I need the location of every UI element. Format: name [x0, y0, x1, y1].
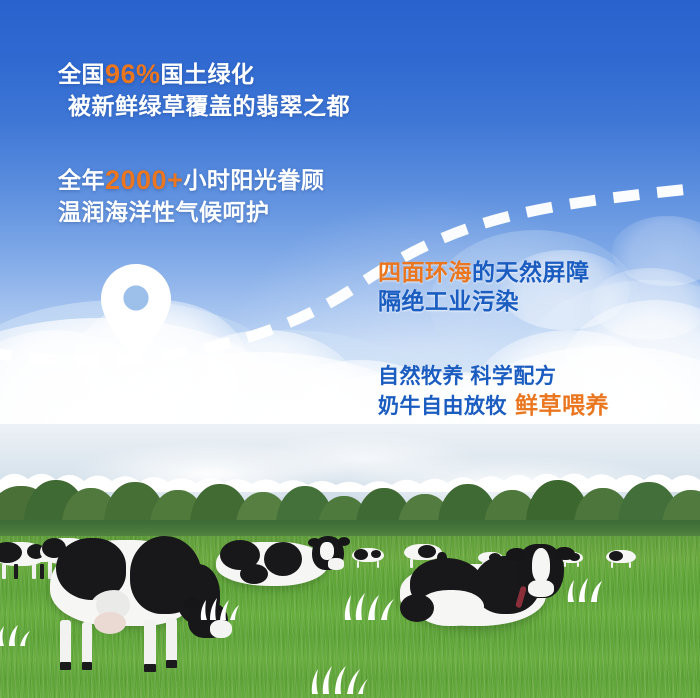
feeding-line-1: 自然牧养 科学配方: [378, 364, 609, 391]
text-block-feeding: 自然牧养 科学配方 奶牛自由放牧鲜草喂养: [378, 364, 609, 421]
text-block-greening: 全国96%国土绿化 被新鲜绿草覆盖的翡翠之都: [58, 57, 350, 121]
grass-tuft-icon: [308, 662, 370, 694]
greening-line-2: 被新鲜绿草覆盖的翡翠之都: [58, 92, 350, 121]
greening-highlight: 96%: [105, 59, 161, 89]
grass-tuft-icon: [0, 620, 32, 646]
pasture-photo: [0, 424, 700, 698]
text-block-sea-barrier: 四面环海的天然屏障 隔绝工业污染: [378, 258, 590, 317]
greening-line1-pre: 全国: [58, 61, 105, 87]
cow-foreground-grazing: [38, 502, 228, 674]
sea-barrier-line-2: 隔绝工业污染: [378, 287, 590, 316]
greening-line1-post: 国土绿化: [161, 61, 255, 87]
text-block-sunshine: 全年2000+小时阳光眷顾 温润海洋性气候呵护: [58, 163, 324, 227]
location-pin-icon: [98, 262, 174, 360]
feeding-line2-pre: 奶牛自由放牧: [378, 395, 507, 418]
sunshine-line1-post: 小时阳光眷顾: [183, 167, 324, 193]
sea-barrier-line-1: 四面环海的天然屏障: [378, 258, 590, 287]
sea-barrier-line1-post: 的天然屏障: [472, 259, 590, 285]
sunshine-line-1: 全年2000+小时阳光眷顾: [58, 163, 324, 198]
cow-distant: [606, 550, 640, 568]
grass-tuft-icon: [196, 594, 240, 620]
cow-lying-middle: [216, 534, 348, 594]
feeding-line-2: 奶牛自由放牧鲜草喂养: [378, 391, 609, 421]
cow-lying-foreground: [400, 542, 580, 632]
grass-tuft-icon: [564, 574, 610, 602]
sunshine-highlight: 2000+: [105, 165, 183, 195]
sea-barrier-highlight: 四面环海: [378, 259, 472, 285]
grass-tuft-icon: [342, 590, 398, 620]
promo-poster: 全国96%国土绿化 被新鲜绿草覆盖的翡翠之都 全年2000+小时阳光眷顾 温润海…: [0, 0, 700, 698]
sunshine-line-2: 温润海洋性气候呵护: [58, 198, 324, 227]
sunshine-line1-pre: 全年: [58, 167, 105, 193]
cow-distant: [352, 548, 388, 568]
greening-line-1: 全国96%国土绿化: [58, 57, 350, 92]
feeding-highlight: 鲜草喂养: [515, 392, 609, 418]
